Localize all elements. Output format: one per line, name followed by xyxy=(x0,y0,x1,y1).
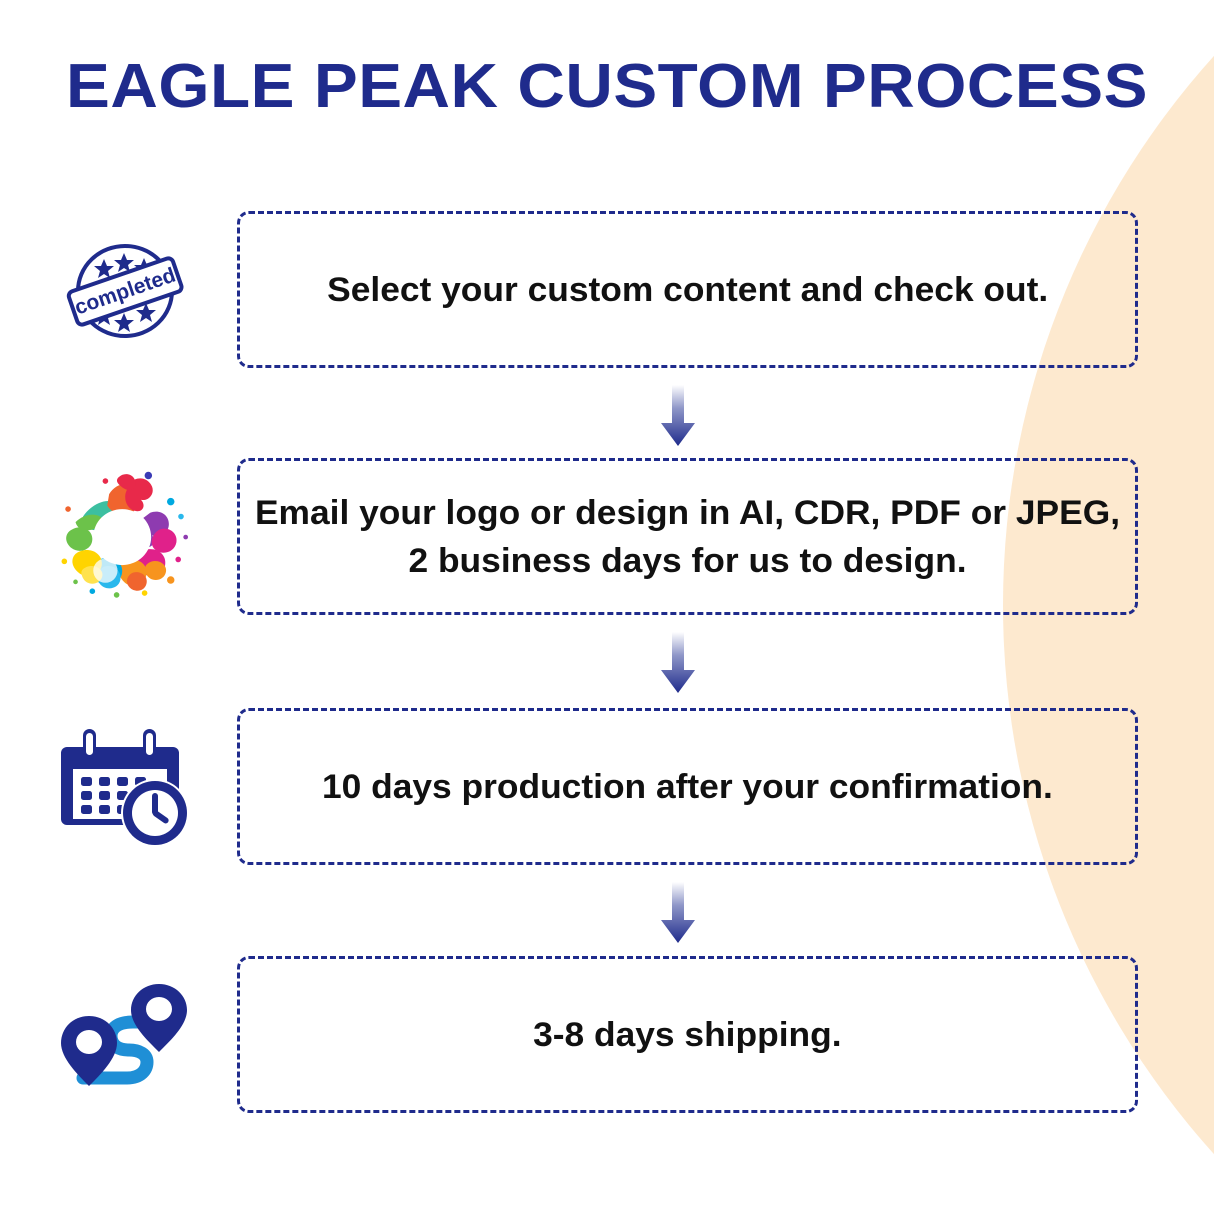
infographic-canvas: EAGLE PEAK CUSTOM PROCESS completed Sele… xyxy=(0,0,1214,1214)
step-2-box: Email your logo or design in AI, CDR, PD… xyxy=(237,458,1138,615)
shipping-route-pins-icon xyxy=(55,982,195,1092)
paint-splash-ring-icon xyxy=(55,460,195,615)
step-4-box: 3-8 days shipping. xyxy=(237,956,1138,1113)
arrow-step2-to-step3 xyxy=(656,632,700,694)
completed-stamp-icon: completed xyxy=(55,228,195,353)
page-title: EAGLE PEAK CUSTOM PROCESS xyxy=(66,52,1214,122)
step-1-text: Select your custom content and check out… xyxy=(300,266,1075,314)
step-3-box: 10 days production after your confirmati… xyxy=(237,708,1138,865)
step-3-text: 10 days production after your confirmati… xyxy=(295,763,1080,811)
arrow-step3-to-step4 xyxy=(656,882,700,944)
arrow-step1-to-step2 xyxy=(656,385,700,447)
calendar-clock-icon xyxy=(55,725,195,850)
step-1-box: Select your custom content and check out… xyxy=(237,211,1138,368)
step-2-text: Email your logo or design in AI, CDR, PD… xyxy=(222,489,1153,585)
step-4-text: 3-8 days shipping. xyxy=(506,1011,869,1059)
